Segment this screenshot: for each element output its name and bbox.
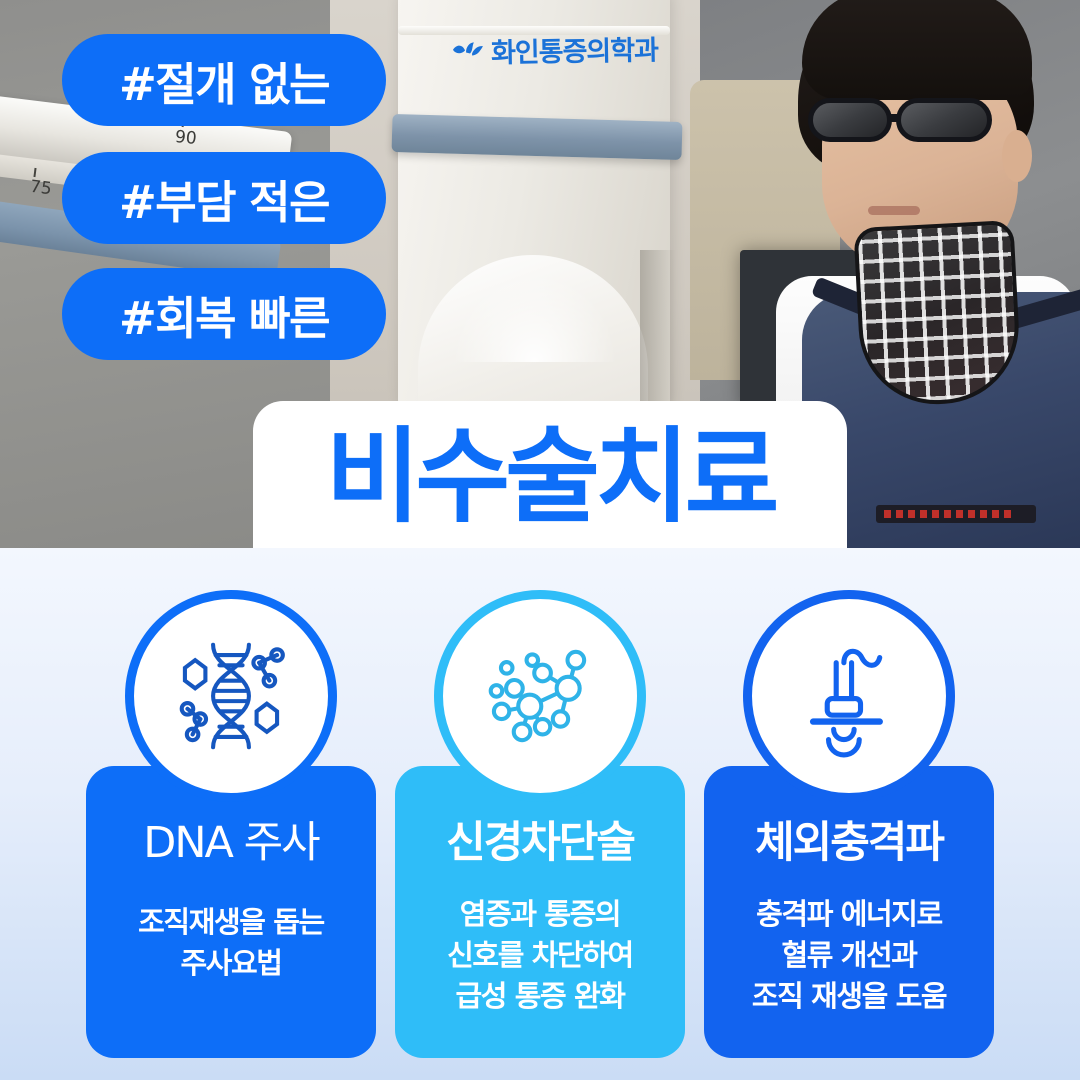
dna-helix-icon — [167, 632, 295, 760]
protective-eyewear-icon — [808, 92, 1000, 148]
nerve-network-icon — [476, 632, 604, 760]
treatment-card-dna-injection[interactable]: DNA 주사 조직재생을 돕는 주사요법 — [86, 766, 376, 1058]
treatment-card-list: DNA 주사 조직재생을 돕는 주사요법 — [0, 548, 1080, 1080]
treatments-section: DNA 주사 조직재생을 돕는 주사요법 — [0, 548, 1080, 1080]
treatment-card-3-desc-line-1: 충격파 에너지로 — [704, 894, 994, 935]
shockwave-probe-icon — [785, 632, 913, 760]
hashtag-pill-3: #회복 빠른 — [62, 268, 386, 360]
carm-scale-mark-75: 75 — [29, 177, 53, 199]
clinic-logo: 화인통증의학과 — [452, 28, 659, 71]
hashtag-pill-1: #절개 없는 — [62, 34, 386, 126]
hashtag-pill-3-label: #회복 빠른 — [119, 282, 329, 347]
treatment-card-2-title: 신경차단술 — [395, 822, 685, 865]
treatment-card-3-title: 체외충격파 — [704, 822, 994, 865]
treatment-card-2-desc-line-1: 염증과 통증의 — [395, 894, 685, 935]
doctor-mouth — [868, 206, 920, 215]
promo-poster: 화인통증의학과 75 90 — [0, 0, 1080, 1080]
carm-blue-band — [392, 114, 683, 160]
hashtag-pill-2: #부담 적은 — [62, 152, 386, 244]
clinic-photo-background: 화인통증의학과 75 90 — [0, 0, 1080, 548]
doctor-ear — [1002, 130, 1032, 182]
main-title-text: 비수술치료 — [326, 426, 775, 529]
clinic-logo-text: 화인통증의학과 — [491, 28, 659, 70]
treatment-card-3-description: 충격파 에너지로 혈류 개선과 조직 재생을 도움 — [704, 894, 994, 1018]
treatment-card-1-title: DNA 주사 — [86, 822, 376, 865]
treatment-card-1-desc-line-2: 주사요법 — [86, 943, 376, 984]
leaf-bird-mark-icon — [452, 39, 484, 64]
eyewear-lens-left — [808, 98, 892, 142]
treatment-card-2-desc-line-3: 급성 통증 완화 — [395, 976, 685, 1017]
apron-brand-label — [876, 505, 1036, 523]
treatment-card-2-icon-circle — [434, 590, 646, 802]
doctor-hair-front — [802, 0, 1032, 100]
treatment-card-shockwave[interactable]: 체외충격파 충격파 에너지로 혈류 개선과 조직 재생을 도움 — [704, 766, 994, 1058]
carm-scale-mark-90: 90 — [174, 127, 197, 149]
treatment-card-nerve-block[interactable]: 신경차단술 염증과 통증의 신호를 차단하여 급성 통증 완화 — [395, 766, 685, 1058]
main-title-banner: 비수술치료 — [253, 401, 847, 548]
treatment-card-2-desc-line-2: 신호를 차단하여 — [395, 935, 685, 976]
treatment-card-1-icon-circle — [125, 590, 337, 802]
treatment-card-1-desc-line-1: 조직재생을 돕는 — [86, 902, 376, 943]
treatment-card-3-desc-line-3: 조직 재생을 도움 — [704, 976, 994, 1017]
hashtag-pill-1-label: #절개 없는 — [119, 48, 329, 113]
treatment-card-3-icon-circle — [743, 590, 955, 802]
eyewear-lens-right — [896, 98, 992, 142]
treatment-card-2-description: 염증과 통증의 신호를 차단하여 급성 통증 완화 — [395, 894, 685, 1018]
treatment-card-3-desc-line-2: 혈류 개선과 — [704, 935, 994, 976]
treatment-card-1-description: 조직재생을 돕는 주사요법 — [86, 902, 376, 984]
hashtag-pill-2-label: #부담 적은 — [119, 166, 329, 231]
